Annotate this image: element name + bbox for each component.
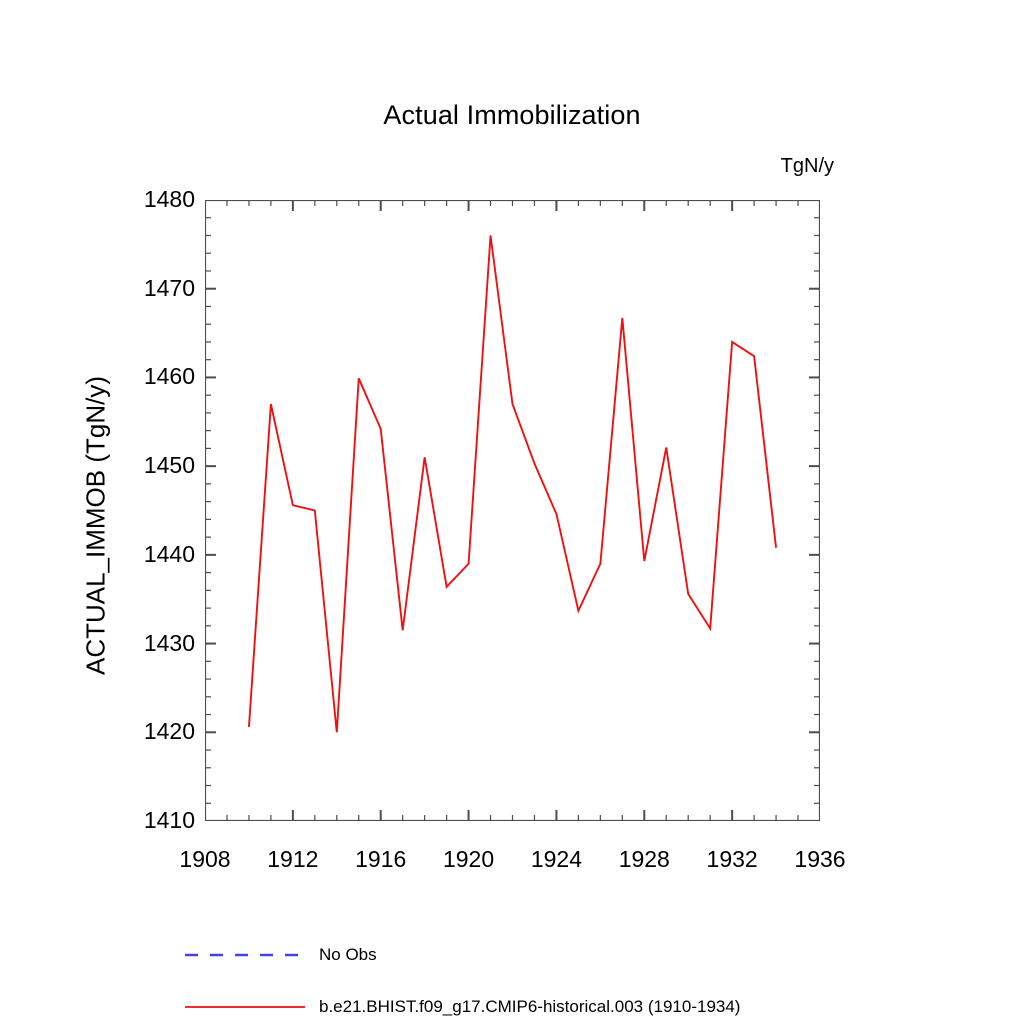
data-series-lines <box>249 235 776 732</box>
y-axis-title: ACTUAL_IMMOB (TgN/y) <box>81 216 112 836</box>
x-tick-label: 1936 <box>765 846 875 873</box>
y-tick-label: 1450 <box>109 452 195 479</box>
legend-swatch-model-run <box>185 1000 305 1014</box>
y-tick-label: 1420 <box>109 718 195 745</box>
legend-line-1 <box>185 1000 305 1014</box>
legend-item-model-run: b.e21.BHIST.f09_g17.CMIP6-historical.003… <box>185 992 740 1022</box>
y-tick-label: 1470 <box>109 275 195 302</box>
y-tick-label: 1460 <box>109 363 195 390</box>
chart-legend: No Obs b.e21.BHIST.f09_g17.CMIP6-histori… <box>0 930 1024 1020</box>
legend-swatch-no-obs <box>185 948 305 962</box>
chart-title: Actual Immobilization <box>0 100 1024 131</box>
y-tick-label: 1480 <box>109 186 195 213</box>
axis-ticks <box>205 200 820 821</box>
y-tick-label: 1410 <box>109 807 195 834</box>
legend-label-no-obs: No Obs <box>319 945 377 965</box>
chart-figure: Actual Immobilization TgN/y ACTUAL_IMMOB… <box>0 0 1024 1024</box>
legend-label-model-run: b.e21.BHIST.f09_g17.CMIP6-historical.003… <box>319 997 740 1017</box>
plot-frame <box>205 200 820 821</box>
legend-item-no-obs: No Obs <box>185 940 377 970</box>
y-tick-label: 1430 <box>109 630 195 657</box>
series-line-1 <box>249 235 776 732</box>
units-label: TgN/y <box>781 155 834 178</box>
plot-svg <box>205 200 820 821</box>
legend-line-0 <box>185 948 305 962</box>
y-tick-label: 1440 <box>109 541 195 568</box>
plot-area <box>205 200 820 821</box>
